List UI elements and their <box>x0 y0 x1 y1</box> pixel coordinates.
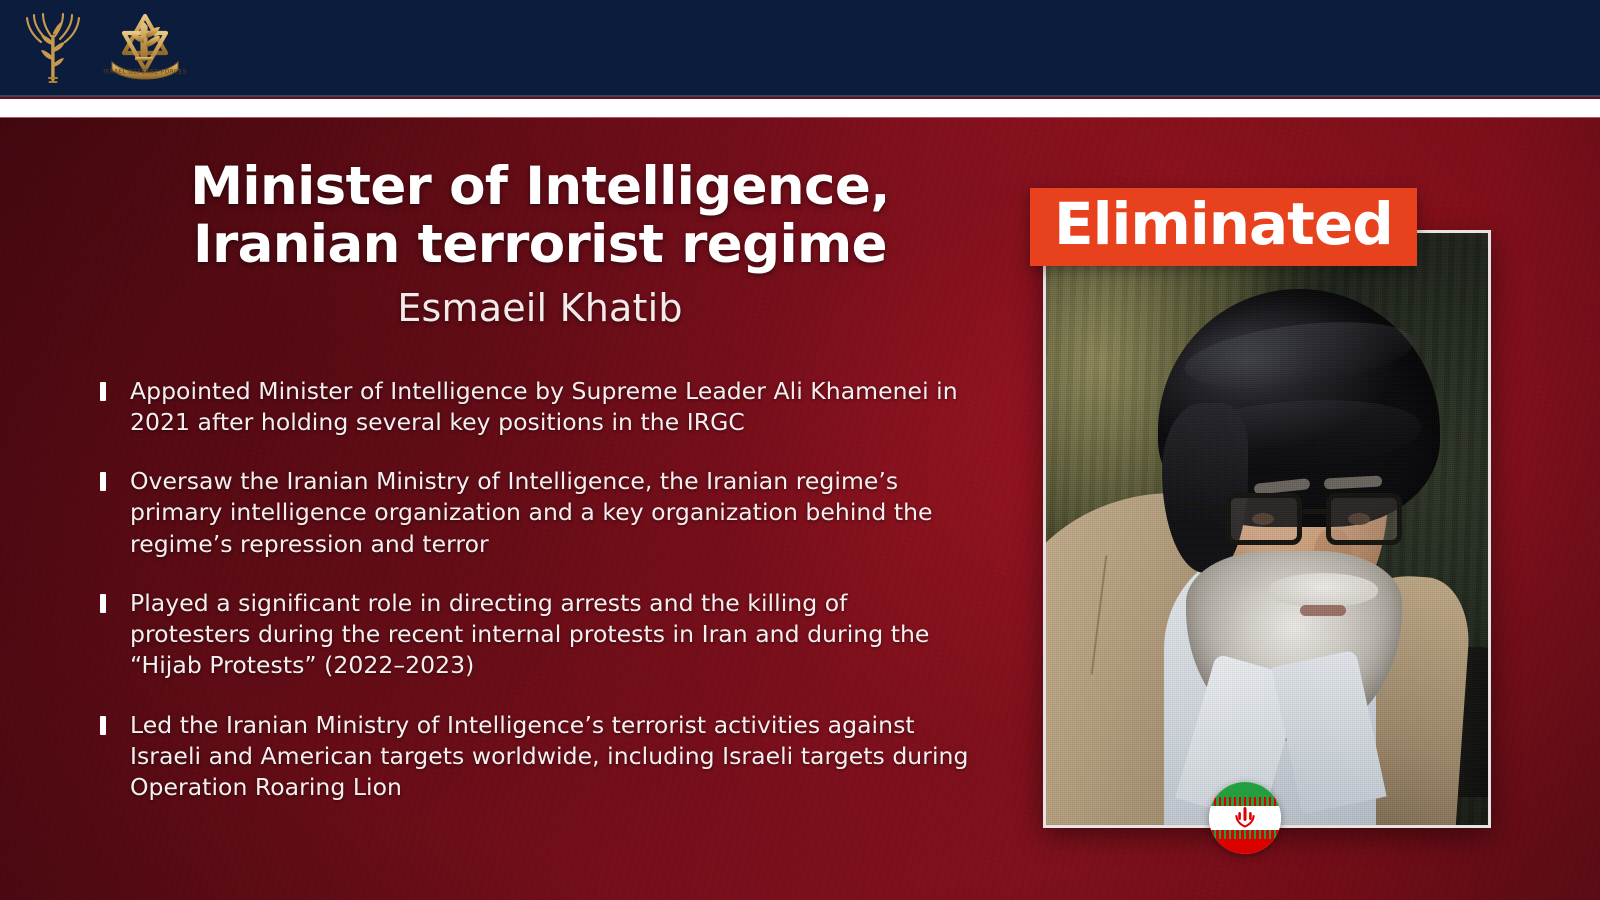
status-badge: Eliminated <box>1030 188 1417 266</box>
content-column: Minister of Intelligence, Iranian terror… <box>78 158 978 803</box>
title-line-1: Minister of Intelligence, <box>102 158 978 216</box>
fact-list: Appointed Minister of Intelligence by Su… <box>78 376 978 804</box>
title-line-2: Iranian terrorist regime <box>102 216 978 274</box>
idf-spokesperson-olive-branch-logo <box>22 9 84 87</box>
bullet-marker-icon <box>100 594 106 613</box>
subject-name: Esmaeil Khatib <box>78 286 978 330</box>
list-item: Led the Iranian Ministry of Intelligence… <box>90 710 970 804</box>
portrait-card <box>1043 230 1491 828</box>
idf-emblem-logo: ISRAEL DEFENSE FORCES <box>102 8 188 88</box>
bullet-marker-icon <box>100 472 106 491</box>
list-item-text: Led the Iranian Ministry of Intelligence… <box>130 711 968 802</box>
bullet-marker-icon <box>100 382 106 401</box>
list-item-text: Played a significant role in directing a… <box>130 589 929 680</box>
list-item: Played a significant role in directing a… <box>90 588 970 682</box>
eyeglasses-icon <box>1222 493 1408 549</box>
poster-root: ISRAEL DEFENSE FORCES Minister of Intell… <box>0 0 1600 900</box>
iran-emblem-icon <box>1232 806 1258 830</box>
list-item: Appointed Minister of Intelligence by Su… <box>90 376 970 439</box>
iran-flag-icon <box>1209 782 1281 854</box>
flag-kufic-band-bottom <box>1209 830 1281 839</box>
header-logos: ISRAEL DEFENSE FORCES <box>22 8 188 88</box>
header-bar: ISRAEL DEFENSE FORCES <box>0 0 1600 97</box>
list-item: Oversaw the Iranian Ministry of Intellig… <box>90 466 970 560</box>
portrait-frame <box>1043 230 1491 828</box>
flag-kufic-band-top <box>1209 797 1281 806</box>
portrait-photo <box>1046 233 1488 825</box>
bullet-marker-icon <box>100 716 106 735</box>
list-item-text: Appointed Minister of Intelligence by Su… <box>130 377 958 436</box>
page-title: Minister of Intelligence, Iranian terror… <box>78 158 978 274</box>
svg-text:ISRAEL DEFENSE FORCES: ISRAEL DEFENSE FORCES <box>103 69 187 76</box>
header-white-divider <box>0 99 1600 117</box>
list-item-text: Oversaw the Iranian Ministry of Intellig… <box>130 467 933 558</box>
status-badge-label: Eliminated <box>1054 190 1393 258</box>
